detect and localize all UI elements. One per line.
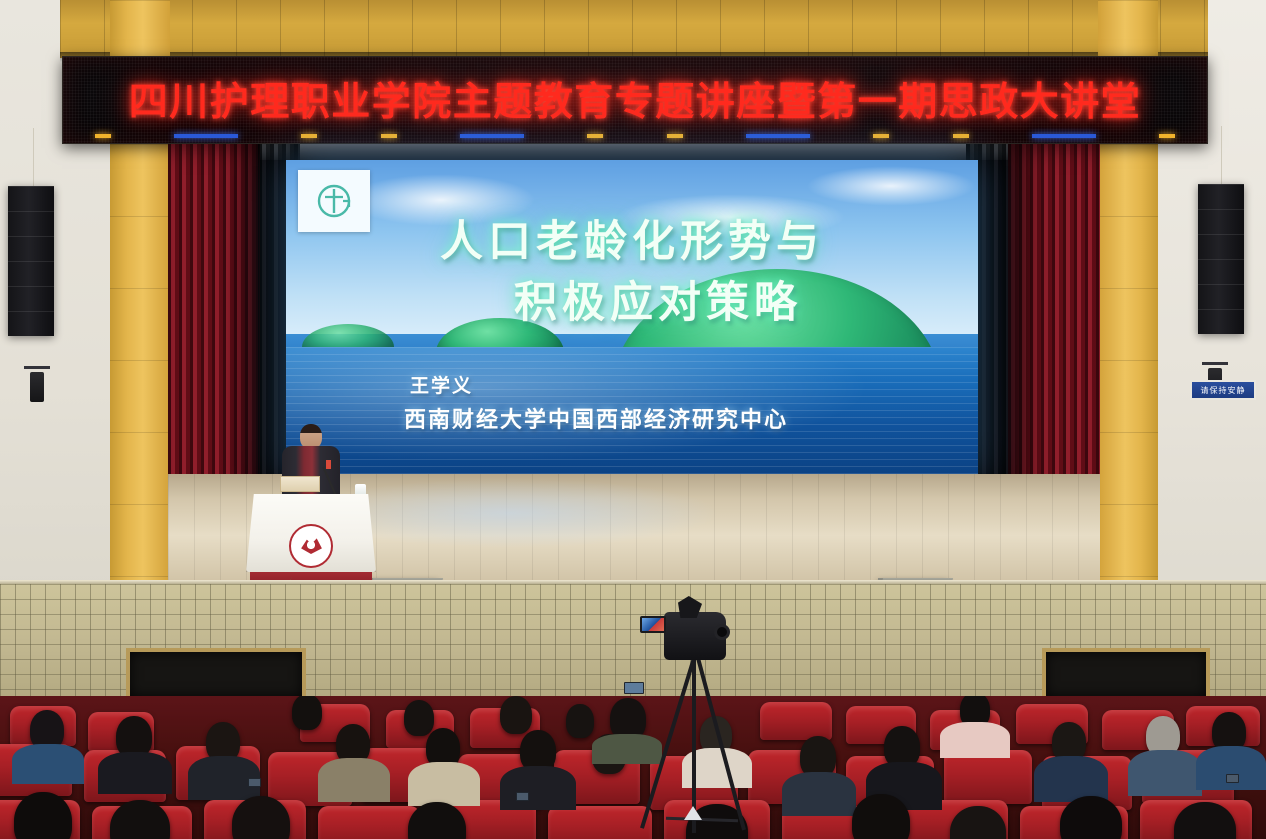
slide-title-line1: 人口老龄化形势与 xyxy=(440,217,824,267)
led-banner-text: 四川护理职业学院主题教育专题讲座暨第一期思政大讲堂 xyxy=(63,71,1207,127)
attendee-shoulders xyxy=(1128,750,1202,796)
podium xyxy=(246,494,376,594)
attendee-head xyxy=(404,700,434,736)
podium-body xyxy=(246,494,376,572)
spotlight-arm-left xyxy=(24,366,50,369)
spotlight-left xyxy=(30,372,44,402)
attendee-shoulders xyxy=(940,722,1010,758)
attendee-shoulders xyxy=(1034,756,1108,802)
quiet-sign: 请保持安静 xyxy=(1190,380,1256,400)
attendee-head xyxy=(500,696,532,734)
spotlight-arm-right xyxy=(1202,362,1228,365)
seat xyxy=(760,702,832,740)
slide-speaker-affiliation: 西南财经大学中国西部经济研究中心 xyxy=(404,402,788,434)
slide-speaker-block: 王学义 西南财经大学中国西部经济研究中心 xyxy=(404,371,788,434)
attendee-shoulders xyxy=(12,744,84,784)
line-array-speaker-right xyxy=(1198,184,1244,334)
seat xyxy=(548,806,652,839)
attendee-shoulders xyxy=(500,766,576,810)
seat xyxy=(318,806,420,839)
apron-vent-left xyxy=(126,648,306,700)
apron-vent-right xyxy=(1042,648,1210,700)
slide-speaker-name: 王学义 xyxy=(404,371,788,398)
curtain-track xyxy=(168,144,1100,160)
attendee-shoulders xyxy=(782,772,856,816)
attendee-shoulders xyxy=(408,762,480,806)
auditorium-scene: 四川护理职业学院主题教育专题讲座暨第一期思政大讲堂 人口老龄化 xyxy=(0,0,1266,839)
lectern-nameplate xyxy=(280,476,320,492)
attendee-shoulders xyxy=(98,752,172,794)
phone-screen xyxy=(248,778,261,787)
rigging-wire-right xyxy=(1221,126,1222,186)
tripod-hub xyxy=(684,806,702,820)
seat xyxy=(944,750,1032,804)
cloud-3 xyxy=(806,166,976,206)
ceiling-soffit xyxy=(60,0,1208,58)
podium-area xyxy=(246,424,376,594)
video-camera-on-tripod xyxy=(640,600,760,839)
led-banner: 四川护理职业学院主题教育专题讲座暨第一期思政大讲堂 xyxy=(62,56,1208,144)
tripod-leg-right xyxy=(696,657,746,830)
crest-inner-icon xyxy=(298,536,324,556)
presenter-badge xyxy=(326,460,331,469)
phone-screen xyxy=(1226,774,1239,783)
phone-screen xyxy=(516,792,529,801)
camera-lens-icon xyxy=(714,624,730,640)
slide-title-line2: 积极应对策略 xyxy=(286,273,978,334)
slide-title: 人口老龄化形势与 积极应对策略 xyxy=(286,212,978,334)
camera-lcd-screen xyxy=(640,616,666,633)
rigging-wire-left xyxy=(33,128,34,188)
tripod-leg-left xyxy=(640,657,696,828)
line-array-speaker-left xyxy=(8,186,54,336)
attendee-head xyxy=(852,794,910,839)
attendee-head xyxy=(566,704,594,738)
attendee-head xyxy=(14,792,72,839)
attendee-shoulders xyxy=(1196,746,1266,790)
attendee-head xyxy=(292,696,322,730)
tripod-spreader xyxy=(666,817,738,823)
attendee-shoulders xyxy=(318,758,390,802)
projection-screen: 人口老龄化形势与 积极应对策略 王学义 西南财经大学中国西部经济研究中心 xyxy=(286,160,978,482)
school-crest-emblem xyxy=(289,524,333,568)
led-indicator-row xyxy=(63,132,1207,139)
